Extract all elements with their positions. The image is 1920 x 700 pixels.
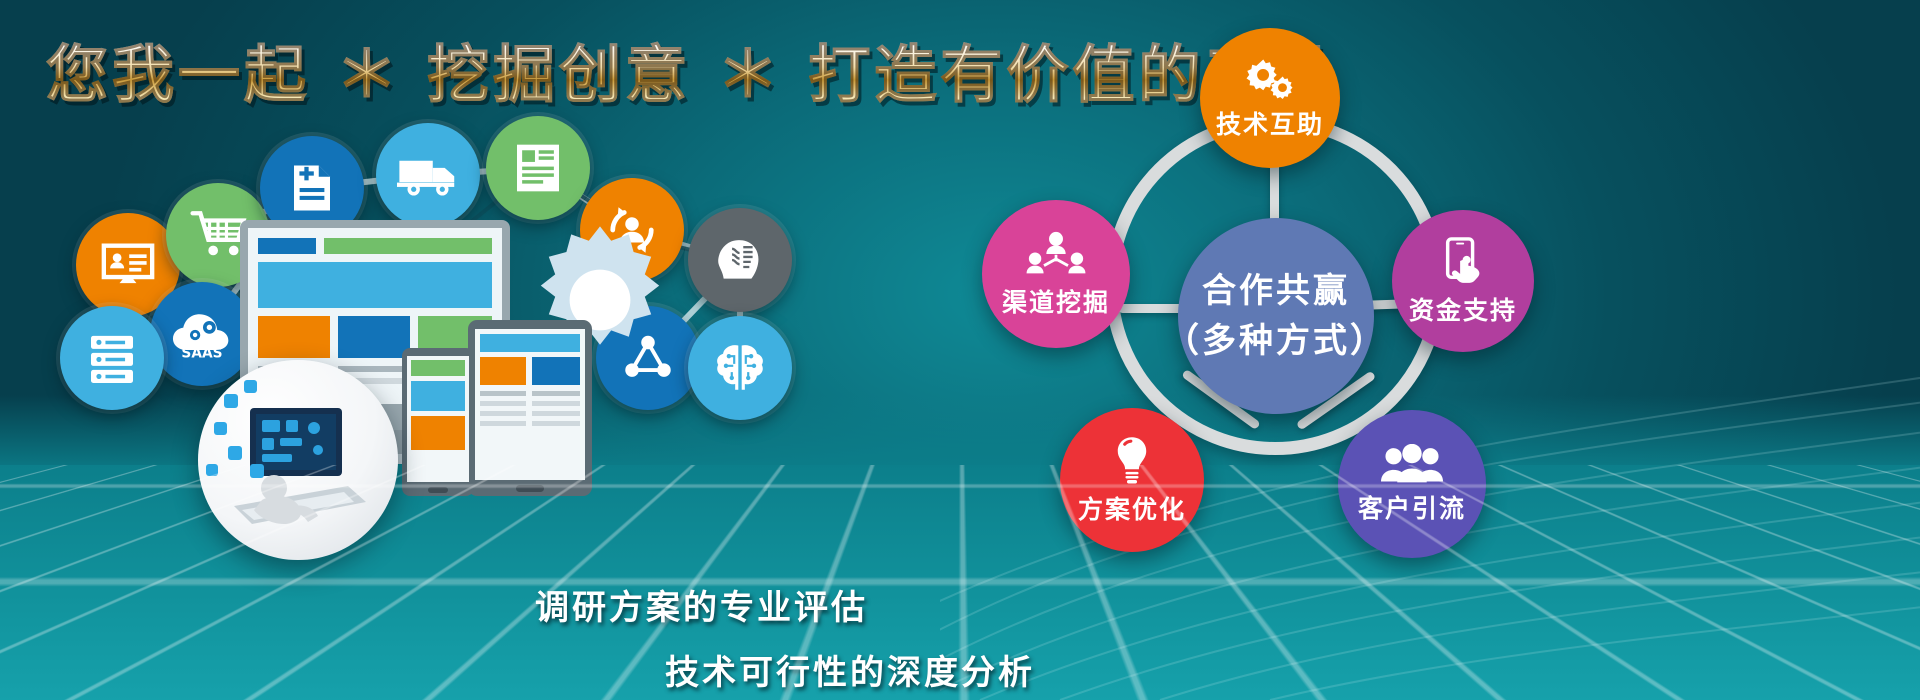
- caption-line-2: 技术可行性的深度分析: [665, 645, 1035, 694]
- mascot-ball: [198, 360, 398, 560]
- lightbulb-icon: [1112, 435, 1152, 490]
- partnership-diagram: 合作共赢 （多种方式） 技术互助: [950, 10, 1570, 610]
- smartphone: [402, 348, 474, 496]
- smartphone-tap-icon: [1440, 236, 1486, 291]
- diagram-node-tech[interactable]: 技术互助: [1200, 28, 1340, 168]
- diagram-center-label-line1: 合作共赢: [1202, 270, 1350, 313]
- server-rack-icon: [60, 306, 164, 410]
- delivery-truck-icon: [376, 123, 480, 227]
- org-people-icon: [1025, 230, 1087, 283]
- caption-line-1: 调研方案的专业评估: [535, 580, 868, 629]
- ai-brain-icon: [688, 316, 792, 420]
- diagram-node-channel-label: 渠道挖掘: [1002, 287, 1110, 318]
- saas-cloud-icon: SAAS: [150, 282, 254, 386]
- user-group-icon: [1381, 444, 1443, 489]
- diagram-node-customers-label: 客户引流: [1358, 493, 1466, 524]
- ai-head-icon: [688, 208, 792, 312]
- diagram-node-optimize[interactable]: 方案优化: [1060, 408, 1204, 552]
- tech-illustration: SAAS: [50, 120, 930, 570]
- diagram-node-funding[interactable]: 资金支持: [1392, 210, 1534, 352]
- svg-text:SAAS: SAAS: [181, 346, 222, 362]
- gears-icon: [1245, 56, 1295, 105]
- person-pushing-computer: [198, 360, 398, 560]
- diagram-center-label-line2: （多种方式）: [1165, 320, 1387, 363]
- news-document-icon: [486, 116, 590, 220]
- diagram-node-customers[interactable]: 客户引流: [1338, 410, 1486, 558]
- diagram-node-channel[interactable]: 渠道挖掘: [982, 200, 1130, 348]
- tablet: [468, 320, 592, 496]
- diagram-node-optimize-label: 方案优化: [1078, 494, 1186, 525]
- diagram-node-funding-label: 资金支持: [1409, 295, 1517, 326]
- diagram-center-node[interactable]: 合作共赢 （多种方式）: [1178, 218, 1374, 414]
- banner-root: 您我一起 ＊ 挖掘创意 ＊ 打造有价值的产品: [0, 0, 1920, 700]
- diagram-node-tech-label: 技术互助: [1216, 109, 1324, 140]
